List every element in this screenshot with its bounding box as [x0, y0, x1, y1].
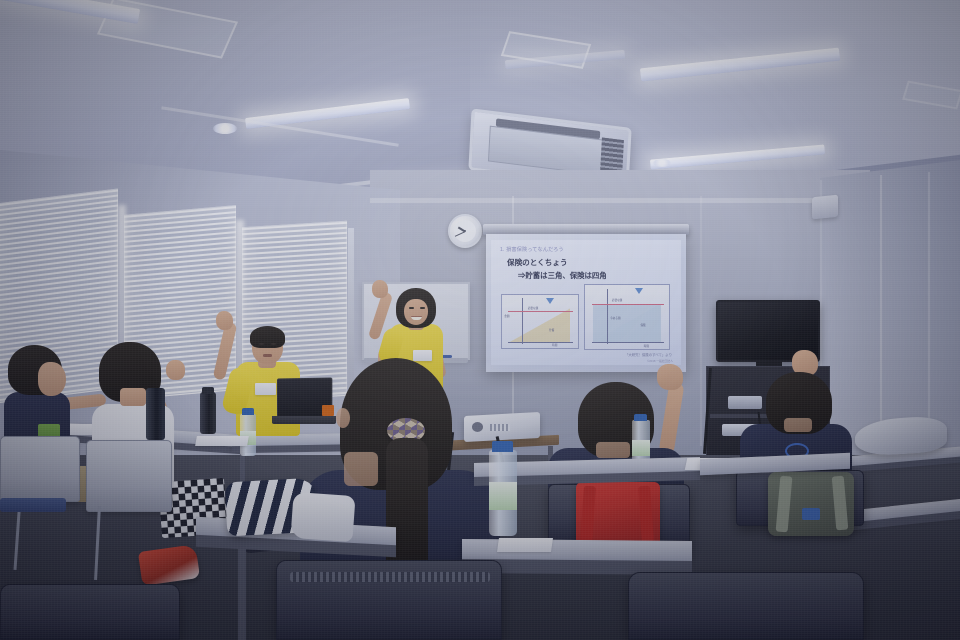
student-left-1-face — [38, 362, 66, 396]
wall-clock — [448, 214, 482, 248]
ceiling-downlight — [213, 123, 237, 134]
student-center-hand — [657, 364, 683, 390]
adult-center-ear — [336, 408, 350, 428]
savings-triangle-fill — [510, 308, 571, 342]
presenter-woman-eye-l — [409, 307, 414, 309]
classroom-photo: 1. 損害保険ってなんだろう 保険のとくちょう ⇒貯蓄は三角、保険は四角 必要な… — [0, 0, 960, 640]
wall-speaker — [812, 195, 838, 220]
diagram-left-x-label: 時間 — [552, 343, 557, 347]
laptop-base — [272, 416, 336, 424]
water-bottle-front-cap — [492, 441, 513, 452]
diagram-left-x-axis — [508, 342, 573, 343]
student-left-2-hand — [166, 360, 185, 380]
water-bottle-front-label — [489, 482, 517, 510]
thermos-bottle — [200, 392, 216, 434]
presenter-woman-hand-left — [372, 280, 388, 298]
chair-seat-left — [0, 498, 66, 512]
slide-heading: 1. 損害保険ってなんだろう — [500, 246, 674, 253]
slide-caption: 「大研究！保険のすべて」より — [625, 352, 672, 357]
chair-foreground-right[interactable] — [628, 572, 864, 640]
presenter-woman-eye-r — [420, 307, 425, 309]
ceiling-downlight-2 — [653, 159, 671, 167]
slide-footer: ©2018 一般社団法人 — [647, 359, 673, 363]
water-bottle-desk-cap — [242, 408, 254, 415]
projector-vent — [490, 424, 510, 431]
presenter-man-hair — [250, 326, 285, 348]
clock-center-pin — [464, 230, 466, 232]
presenter-man-eye-l — [259, 343, 264, 345]
diagram-right-x-axis — [592, 342, 664, 343]
savings-triangle-diagram: 必要な額 貯蓄 金額 時間 — [501, 294, 579, 349]
presenter-man-eye-r — [271, 343, 276, 345]
laptop-indicator — [322, 405, 334, 416]
diagram-left-required-line — [508, 311, 573, 312]
diagram-right-required-line — [592, 304, 664, 305]
diagram-right-y-axis — [607, 289, 608, 344]
water-bottle-center-label — [632, 440, 650, 456]
presentation-slide: 1. 損害保険ってなんだろう 保険のとくちょう ⇒貯蓄は三角、保険は四角 必要な… — [491, 240, 681, 365]
diagram-right-label-top: 必要な額 — [612, 298, 622, 302]
diagram-left-marker-icon — [546, 298, 554, 304]
blind-mullion — [348, 228, 354, 403]
projection-screen: 1. 損害保険ってなんだろう 保険のとくちょう ⇒貯蓄は三角、保険は四角 必要な… — [486, 234, 686, 372]
thermos-bottle-left — [146, 388, 165, 440]
student-center-neck — [596, 442, 630, 458]
desk-front-left-leg — [238, 548, 246, 640]
insurance-rectangle-diagram: 必要な額 今ある額 保険 時間 — [584, 284, 670, 350]
wall-top-band — [370, 198, 825, 203]
diagram-right-label-fill: 保険 — [640, 323, 645, 327]
chair-left-2[interactable] — [86, 440, 172, 512]
student-right-neck — [784, 418, 812, 432]
student-left-2-neck — [120, 388, 146, 406]
clock-face — [454, 220, 476, 242]
presenter-woman-face-front — [404, 299, 428, 325]
slide-subtitle-1: 保険のとくちょう — [507, 257, 674, 268]
handout-front — [497, 538, 553, 552]
av-cart-device — [728, 396, 762, 409]
presenter-man-mouth — [263, 354, 272, 357]
projector-lens — [472, 422, 483, 432]
chair-foreground-far-left[interactable] — [0, 584, 180, 640]
white-cloth-item — [290, 492, 355, 542]
thermos-cap — [202, 387, 214, 394]
diagram-right-marker-icon — [635, 288, 643, 294]
diagram-left-y-axis — [522, 298, 523, 344]
presenter-man-hand — [216, 311, 233, 330]
diagram-left-label-top: 必要な額 — [528, 306, 538, 310]
backpack-blue-detail — [802, 508, 820, 520]
diagram-left-label-fill: 貯蓄 — [549, 328, 554, 332]
adult-center-neck — [344, 452, 378, 486]
water-bottle-center-cap — [634, 414, 647, 421]
wall-seam-2 — [700, 196, 702, 446]
slide-subtitle-2: ⇒貯蓄は三角、保険は四角 — [518, 270, 674, 281]
diagram-right-x-label: 時間 — [644, 344, 649, 348]
presenter-woman-name-tag — [413, 350, 432, 361]
presenter-man-name-tag — [255, 383, 276, 395]
handout-papers-center — [195, 436, 249, 446]
diagram-right-label-mid: 今ある額 — [610, 316, 620, 320]
chair-left-1[interactable] — [0, 436, 80, 502]
chair-foreground-left-rail — [290, 572, 490, 582]
diagram-left-y-label: 金額 — [504, 314, 509, 318]
